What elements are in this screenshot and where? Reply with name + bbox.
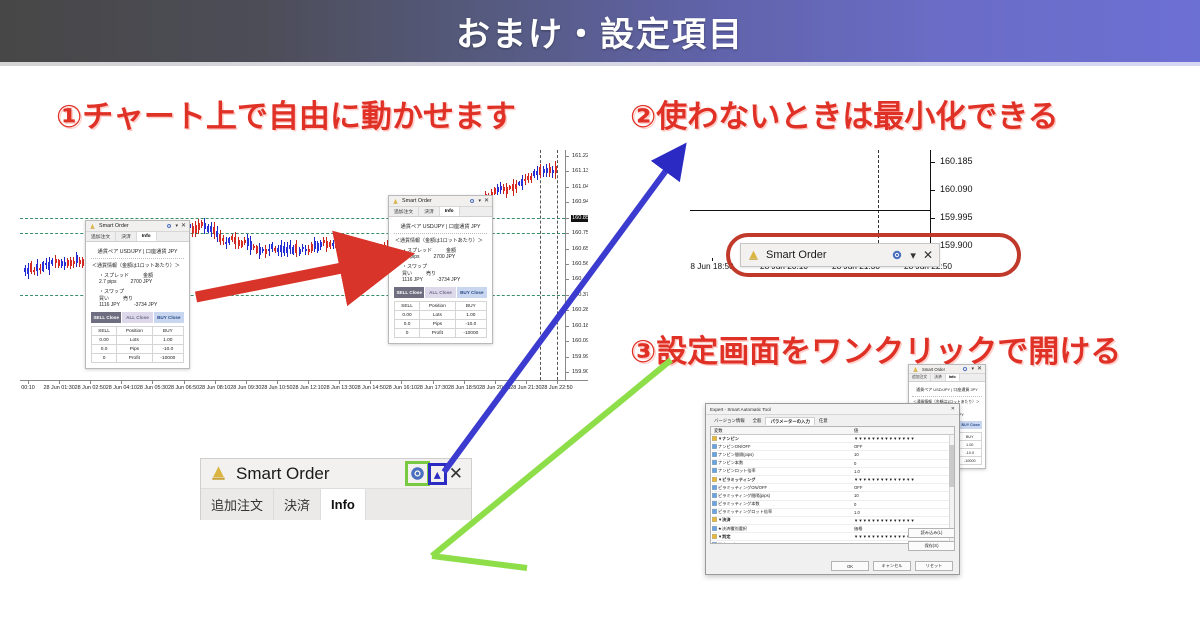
candle-body [195, 225, 197, 233]
axis-tick [931, 162, 935, 163]
swap-sell-value: -3734 JPY [134, 302, 157, 308]
scrollbar-thumb[interactable] [949, 445, 954, 487]
parameter-value[interactable]: OFF [851, 444, 954, 449]
candle-body [381, 247, 383, 255]
axis-tick [566, 295, 569, 296]
candle-body [289, 245, 291, 249]
panel-titlebar[interactable]: Smart Order ▾ ✕ [909, 365, 985, 374]
chevron-down-icon[interactable]: ▾ [971, 367, 974, 372]
table-row: 0Profit-10000 [395, 329, 487, 338]
tab-additional-order[interactable]: 追加注文 [909, 374, 931, 381]
price-tick-label: 160.185 [572, 323, 588, 329]
swap-label: ・スワップ [99, 288, 184, 295]
price-tick-label: 161.040 [572, 184, 588, 190]
candle-body [317, 243, 319, 252]
swap-buy-label: 買い [99, 295, 109, 302]
chevron-down-icon[interactable]: ▾ [175, 224, 178, 229]
candle-body [512, 184, 514, 192]
parameter-grid[interactable]: 変数 値 ▼ナンピン▼▼▼▼▼▼▼▼▼▼▼▼▼▼ナンピンON/OFFOFFナンピ… [710, 426, 955, 544]
parameter-name: ▼決済 [718, 517, 851, 523]
panel-controls[interactable]: ▾ ✕ [962, 366, 982, 372]
parameter-row[interactable]: ピラミッティング間隔(pips)10 [711, 492, 954, 500]
divider [394, 233, 487, 234]
table-cell: Pips [117, 345, 153, 354]
candle-body [384, 245, 386, 249]
candle-body [524, 179, 526, 181]
parameter-name: ナンピン間隔(pips) [718, 452, 851, 458]
time-tick-label: 00:10 [21, 385, 35, 391]
footer-button-2[interactable]: リセット [915, 561, 953, 571]
spread-label: ・スプレッド [99, 272, 129, 279]
table-cell: 1.00 [152, 336, 183, 345]
spread-block: ・スプレッド金額 2.7 pips2700 JPY [402, 247, 487, 260]
table-cell: -10000 [958, 457, 982, 465]
parameter-row[interactable]: ナンピン間隔(pips)10 [711, 451, 954, 459]
candle-body [497, 187, 499, 192]
axis-tick [566, 233, 569, 234]
price-tick-label: 161.130 [572, 168, 588, 174]
candle-body [527, 176, 529, 179]
parameter-name: ナンピンON/OFF [718, 444, 851, 450]
candle-body [329, 242, 331, 247]
price-axis: 161.220161.130161.040160.945160.855160.7… [565, 150, 588, 380]
dialog-tab-3[interactable]: 任意 [815, 417, 832, 425]
axis-tick [495, 381, 496, 384]
axis-tick [215, 381, 216, 384]
candle-body [308, 249, 310, 252]
price-tick-label: 160.280 [572, 307, 588, 313]
tab-info[interactable]: Info [440, 207, 460, 216]
tab-settlement[interactable]: 決済 [274, 489, 321, 520]
axis-tick [566, 341, 569, 342]
candle-body [326, 241, 328, 248]
table-cell: -10000 [455, 329, 486, 338]
grid-header: 変数 値 [711, 427, 954, 435]
swap-block: ・スワップ 買い売り 1116 JPY-3734 JPY [99, 288, 184, 308]
price-tick-label: 160.945 [572, 199, 588, 205]
candle-body [48, 262, 50, 270]
candle-body [42, 262, 44, 270]
parameter-value[interactable]: 1.0 [851, 510, 954, 515]
axis-tick [566, 279, 569, 280]
candle-body [286, 247, 288, 253]
chevron-up-icon[interactable]: ▴ [432, 467, 443, 481]
panel-titlebar[interactable]: Smart Order ▾ ✕ [86, 221, 189, 232]
candle-body [207, 226, 209, 232]
parameter-value[interactable]: ▼▼▼▼▼▼▼▼▼▼▼▼▼▼ [851, 436, 954, 441]
close-icon[interactable]: ✕ [449, 465, 463, 482]
candle-body [509, 186, 511, 188]
axis-tick [28, 381, 29, 384]
chevron-down-icon[interactable]: ▾ [478, 199, 481, 204]
panel-controls-zoomed[interactable]: ▴ ✕ [409, 465, 463, 482]
candle-body [302, 247, 304, 249]
tab-additional-order[interactable]: 追加注文 [389, 207, 419, 216]
candle-body [216, 231, 218, 236]
header-banner: おまけ・設定項目 [0, 0, 1200, 62]
axis-tick [246, 381, 247, 384]
parameter-name: ▼ピラミッティング [718, 477, 851, 483]
all-close-button[interactable]: ALL Close [122, 312, 152, 323]
panel-tabs[interactable]: 追加注文 決済 Info [389, 207, 492, 217]
price-tick-label: 160.090 [940, 184, 973, 194]
bell-logo-icon [912, 366, 919, 373]
time-tick-label: 28 Jun 05:30 [137, 385, 168, 391]
sell-close-button[interactable]: SELL Close [394, 287, 424, 298]
panel-controls[interactable]: ▾ ✕ [469, 198, 489, 204]
parameter-name: ピラミッティング本数 [718, 501, 851, 507]
close-icon[interactable]: ✕ [484, 198, 489, 204]
panel-tabs[interactable]: 追加注文 決済 Info [86, 232, 189, 242]
caption-three: ③設定画面をワンクリックで開ける [630, 326, 1121, 371]
bell-logo-icon [89, 223, 96, 230]
candle-body [274, 248, 276, 251]
candle-body [494, 188, 496, 193]
parameter-value[interactable]: 1.0 [851, 469, 954, 474]
parameter-name: ピラミッティングON/OFF [718, 485, 851, 491]
candle-body [280, 245, 282, 252]
candle-body [198, 223, 200, 230]
smart-order-zoomed-header[interactable]: Smart Order ▴ ✕ 追加注文 決済 Info [200, 458, 472, 520]
table-cell: 0 [395, 329, 420, 338]
settings-dialog[interactable]: Expert - Smart Automatic Tool ✕ バージョン情報全… [705, 403, 960, 575]
divider [91, 258, 184, 259]
axis-tick [931, 218, 935, 219]
axis-tick [566, 156, 569, 157]
table-cell: 0.00 [92, 336, 117, 345]
dialog-tab-0[interactable]: バージョン情報 [710, 417, 749, 425]
close-buttons[interactable]: SELL Close ALL Close BUY Close [91, 312, 184, 323]
axis-tick [566, 202, 569, 203]
panel-title-text: Smart Order [99, 223, 163, 229]
dialog-footer-buttons[interactable]: OKキャンセルリセット [706, 561, 959, 571]
vertical-scrollbar[interactable] [949, 435, 954, 543]
table-cell: -10.0 [958, 449, 982, 457]
swap-buy-label: 買い [402, 270, 412, 277]
close-icon[interactable]: ✕ [181, 223, 186, 229]
dialog-titlebar[interactable]: Expert - Smart Automatic Tool ✕ [706, 404, 959, 415]
candle-body [299, 249, 301, 255]
table-cell: -10.0 [152, 345, 183, 354]
candle-body [363, 252, 365, 256]
candle-body [338, 240, 340, 243]
candle-body [271, 244, 273, 249]
gear-icon[interactable] [409, 465, 426, 482]
parameter-row[interactable]: ピラミッティングON/OFFOFF [711, 484, 954, 492]
candle-body [265, 249, 267, 254]
candle-body [61, 261, 63, 266]
candle-body [378, 251, 380, 257]
param-icon [711, 493, 718, 499]
parameter-row[interactable]: ▼ピラミッティング▼▼▼▼▼▼▼▼▼▼▼▼▼▼ [711, 476, 954, 484]
candle-body [231, 236, 233, 240]
side-button-0[interactable]: 読み込み(L) [908, 528, 955, 538]
candle-body [356, 247, 358, 254]
table-row: 0.00Lots1.00 [395, 311, 487, 320]
candle-body [344, 241, 346, 244]
candle-body [341, 239, 343, 242]
candle-body [192, 226, 194, 233]
tab-settlement[interactable]: 決済 [116, 232, 137, 241]
dialog-tabs[interactable]: バージョン情報全般パラメーターの入力任意 [706, 415, 959, 425]
time-tick-label: 28 Jun 14:50 [355, 385, 386, 391]
candle-body [549, 167, 551, 173]
candle-body [204, 223, 206, 229]
parameter-row[interactable]: ▼決済▼▼▼▼▼▼▼▼▼▼▼▼▼▼ [711, 517, 954, 525]
candle-body [500, 186, 502, 190]
price-tick-label: 159.995 [572, 354, 588, 360]
time-tick-label: 28 Jun 20:10 [479, 385, 510, 391]
candle-body [518, 182, 520, 184]
dialog-tab-2[interactable]: パラメーターの入力 [765, 417, 814, 425]
close-buttons[interactable]: SELL Close ALL Close BUY Close [394, 287, 487, 298]
candle-body [247, 238, 249, 247]
caption-two: ②使わないときは最小化できる [630, 91, 1059, 136]
table-row: SELLPositionBUY [395, 302, 487, 311]
table-cell: 0.0 [395, 320, 420, 329]
dialog-side-buttons[interactable]: 読み込み(L)保存(S) [908, 528, 955, 551]
table-cell: Lots [420, 311, 456, 320]
panel-titlebar-zoomed[interactable]: Smart Order ▴ ✕ [201, 459, 471, 489]
param-icon [711, 542, 718, 544]
candle-body [253, 246, 255, 249]
axis-tick [277, 381, 278, 384]
parameter-row[interactable]: ▼ナンピン▼▼▼▼▼▼▼▼▼▼▼▼▼▼ [711, 435, 954, 443]
parameter-row[interactable]: ナンピン本数0 [711, 460, 954, 468]
parameter-row[interactable]: ナンピンロット倍率1.0 [711, 468, 954, 476]
time-tick-label: 28 Jun 01:30 [44, 385, 75, 391]
sell-close-button[interactable]: SELL Close [91, 312, 121, 323]
candle-body [506, 187, 508, 193]
candle-body [82, 259, 84, 266]
swap-sell-value: -3734 JPY [437, 277, 460, 283]
candle-body [30, 263, 32, 272]
time-tick-label: 28 Jun 18:50 [448, 385, 479, 391]
table-header-cell: BUY [958, 433, 982, 441]
swap-sell-label: 売り [123, 295, 133, 302]
swap-buy-value: 1116 JPY [99, 302, 120, 308]
time-axis: 00:1028 Jun 01:3028 Jun 02:5028 Jun 04:1… [20, 380, 588, 396]
spread-label: ・スプレッド [402, 247, 432, 254]
candle-body [366, 250, 368, 257]
tab-settlement[interactable]: 決済 [419, 207, 440, 216]
close-icon[interactable]: ✕ [977, 366, 982, 372]
candle-body [51, 260, 53, 264]
candle-body [79, 260, 81, 264]
candle-body [347, 241, 349, 248]
header-shadow [0, 62, 1200, 66]
parameter-value[interactable]: 10 [851, 493, 954, 498]
swap-buy-value: 1116 JPY [402, 277, 423, 283]
time-tick-label: 28 Jun 13:30 [324, 385, 355, 391]
time-tick-label: 28 Jun 02:50 [75, 385, 106, 391]
panel-titlebar[interactable]: Smart Order ▾ ✕ [389, 196, 492, 207]
table-cell: Profit [420, 329, 456, 338]
dialog-tab-1[interactable]: 全般 [749, 417, 766, 425]
group-icon [711, 534, 718, 540]
parameter-name: ナンピン本数 [718, 460, 851, 466]
panel-tabs-zoomed[interactable]: 追加注文 決済 Info [201, 489, 471, 520]
candle-body [244, 240, 246, 243]
gear-icon[interactable] [962, 366, 968, 372]
candle-body [536, 171, 538, 176]
axis-tick [184, 381, 185, 384]
candle-body [539, 167, 541, 175]
table-header-cell: Position [420, 302, 456, 311]
table-cell: Profit [117, 354, 153, 363]
axis-tick [370, 381, 371, 384]
dialog-title-text: Expert - Smart Automatic Tool [710, 407, 951, 412]
param-icon [711, 485, 718, 491]
tab-additional-order[interactable]: 追加注文 [201, 489, 274, 520]
parameter-name: ピラミッティング間隔(pips) [718, 493, 851, 499]
panel-controls[interactable]: ▾ ✕ [166, 223, 186, 229]
axis-tick [121, 381, 122, 384]
group-icon [711, 477, 718, 483]
column-header-value: 値 [851, 428, 954, 434]
candle-body [250, 241, 252, 250]
side-button-1[interactable]: 保存(S) [908, 541, 955, 551]
candle-body [283, 246, 285, 253]
page-title: おまけ・設定項目 [0, 0, 1200, 62]
footer-button-1[interactable]: キャンセル [873, 561, 911, 571]
tab-settlement[interactable]: 決済 [931, 374, 946, 381]
gear-icon[interactable] [469, 198, 475, 204]
candle-body [219, 234, 221, 242]
bell-logo-icon [392, 198, 399, 205]
parameter-name: ピラミッティングロット倍率 [718, 509, 851, 515]
candle-body [33, 270, 35, 272]
tab-info[interactable]: Info [321, 489, 366, 520]
currency-info-heading: ＜通貨情報（金額は1ロットあたり）＞ [92, 262, 184, 269]
parameter-row[interactable]: ピラミッティング本数0 [711, 501, 954, 509]
candle-body [262, 249, 264, 251]
table-header-cell: BUY [455, 302, 486, 311]
time-tick-label: 28 Jun 12:10 [292, 385, 323, 391]
table-row: 0.0Pips-10.0 [92, 345, 184, 354]
parameter-value[interactable]: ▼▼▼▼▼▼▼▼▼▼▼▼▼▼ [851, 477, 954, 482]
price-tick-label: 160.855 [571, 215, 588, 222]
table-cell: -10000 [152, 354, 183, 363]
candle-body [210, 226, 212, 232]
spread-amount-label: 金額 [446, 247, 456, 254]
close-icon[interactable]: ✕ [951, 406, 955, 412]
bell-logo-icon [209, 464, 228, 483]
candle-body [320, 242, 322, 247]
tab-info[interactable]: Info [946, 374, 960, 381]
parameter-name: 判定 ON/OFF [718, 542, 851, 544]
parameter-value[interactable]: 0 [851, 461, 954, 466]
tab-additional-order[interactable]: 追加注文 [86, 232, 116, 241]
parameter-value[interactable]: 10 [851, 452, 954, 457]
candle-body [295, 244, 297, 253]
candle-body [335, 242, 337, 248]
parameter-value[interactable]: ▼▼▼▼▼▼▼▼▼▼▼▼▼▼ [851, 518, 954, 523]
buy-close-button[interactable]: BUY Close [457, 287, 487, 298]
table-header-cell: BUY [152, 327, 183, 336]
axis-tick [566, 310, 569, 311]
candle-body [64, 262, 66, 266]
panel-title-text: Smart Order [402, 198, 466, 204]
table-row: 0.0Pips-10.0 [395, 320, 487, 329]
axis-tick [931, 190, 935, 191]
candle-body [45, 263, 47, 265]
candle-body [222, 238, 224, 241]
candle-body [213, 227, 215, 234]
smart-order-panel-left[interactable]: Smart Order ▾ ✕ 追加注文 決済 Info 通貨ペア USD/JP… [85, 220, 190, 369]
candle-body [521, 179, 523, 187]
axis-tick [90, 381, 91, 384]
currency-pair-line: 通貨ペア USD/JPY | 口座通貨 JPY [394, 223, 487, 230]
gear-icon[interactable] [166, 223, 172, 229]
footer-button-0[interactable]: OK [831, 561, 869, 571]
parameter-value[interactable]: 0 [851, 502, 954, 507]
axis-tick [557, 381, 558, 384]
candle-body [268, 249, 270, 251]
candle-body [533, 171, 535, 176]
axis-tick [152, 381, 153, 384]
candle-body [256, 246, 258, 253]
panel-title-text: Smart Order [236, 464, 401, 484]
axis-tick [566, 326, 569, 327]
buy-close-button[interactable]: BUY Close [154, 312, 184, 323]
parameter-value[interactable]: OFF [851, 485, 954, 490]
position-table: SELLPositionBUY0.00Lots1.000.0Pips-10.00… [394, 301, 487, 338]
table-cell: -10.0 [455, 320, 486, 329]
candle-body [323, 240, 325, 243]
param-icon [711, 452, 718, 458]
tab-info[interactable]: Info [137, 232, 157, 241]
candle-body [73, 261, 75, 264]
price-tick-label: 160.375 [572, 292, 588, 298]
candle-body [292, 247, 294, 254]
axis-baseline [690, 210, 930, 211]
time-tick-label: 28 Jun 21:30 [510, 385, 541, 391]
candle-body [201, 222, 203, 226]
buy-close-button[interactable]: BUY Close [959, 421, 982, 429]
candle-body [228, 238, 230, 243]
swap-label: ・スワップ [402, 263, 487, 270]
all-close-button[interactable]: ALL Close [425, 287, 455, 298]
param-icon [711, 460, 718, 466]
panel-tabs[interactable]: 追加注文 決済 Info [909, 374, 985, 382]
price-tick-label: 159.900 [572, 369, 588, 375]
green-arrow-tail [432, 556, 527, 568]
candle-body [305, 249, 307, 252]
group-icon [711, 436, 718, 442]
axis-tick [566, 249, 569, 250]
price-tick-label: 161.220 [572, 153, 588, 159]
parameter-row[interactable]: ナンピンON/OFFOFF [711, 443, 954, 451]
price-tick-label: 160.470 [572, 276, 588, 282]
candle-body [360, 250, 362, 253]
param-icon [711, 509, 718, 515]
time-tick-label: 28 Jun 04:10 [106, 385, 137, 391]
table-cell: 0.00 [395, 311, 420, 320]
candle-body [369, 252, 371, 258]
spread-amount-label: 金額 [143, 272, 153, 279]
smart-order-panel-moved[interactable]: Smart Order ▾ ✕ 追加注文 決済 Info 通貨ペア USD/JP… [388, 195, 493, 344]
time-tick-label: 28 Jun 16:10 [386, 385, 417, 391]
candle-body [546, 168, 548, 173]
divider [912, 396, 982, 397]
parameter-row[interactable]: ピラミッティングロット倍率1.0 [711, 509, 954, 517]
spread-amount: 2700 JPY [434, 254, 456, 260]
time-tick-label: 28 Jun 09:30 [230, 385, 261, 391]
candle-body [24, 268, 26, 272]
axis-tick [526, 381, 527, 384]
price-tick-label: 160.565 [572, 261, 588, 267]
